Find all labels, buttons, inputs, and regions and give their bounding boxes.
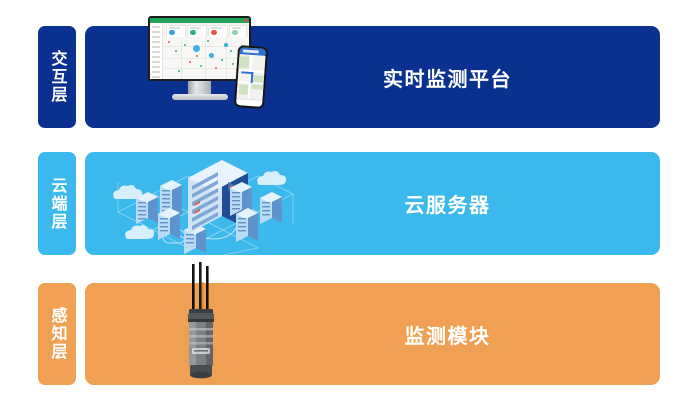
sensor-antennas (192, 262, 209, 312)
layer-tab-sensing-label: 感知层 (46, 307, 67, 361)
phone-map-view (236, 54, 265, 101)
layer-row-cloud: 云端层 (0, 152, 700, 255)
layer-tab-interaction-label: 交互层 (46, 50, 67, 104)
monitor-stand-base (172, 94, 228, 100)
sensor-body (189, 322, 213, 366)
sensor-base (190, 365, 212, 378)
interaction-artwork (148, 16, 280, 120)
dashboard-stat-cards (164, 25, 247, 36)
layer-tab-interaction[interactable]: 交互层 (38, 26, 76, 128)
smartphone-icon (234, 45, 268, 109)
sensor-probe-icon (172, 262, 234, 385)
monitor-screen (150, 18, 249, 79)
layer-tab-sensing[interactable]: 感知层 (38, 283, 76, 385)
layer-row-interaction: 交互层 实时监测平台 (0, 26, 700, 128)
layer-tab-cloud-label: 云端层 (46, 177, 67, 231)
layer-tab-cloud[interactable]: 云端层 (38, 152, 76, 255)
layer-row-sensing: 感知层 监测模块 (0, 283, 700, 385)
dashboard-topbar (150, 18, 249, 23)
sensor-head (188, 309, 214, 322)
diagram-canvas: 交互层 实时监测平台 (0, 0, 700, 405)
phone-screen (236, 47, 266, 107)
phone-bottom-bar (236, 98, 262, 107)
monitor-stand-neck (188, 81, 211, 94)
layer-band-cloud[interactable]: 云服务器 (85, 152, 660, 255)
sensing-artwork (172, 262, 234, 385)
layer-band-cloud-title: 云服务器 (85, 152, 660, 255)
dashboard-sidebar (150, 23, 163, 79)
topbar-alert-dot (244, 19, 247, 22)
